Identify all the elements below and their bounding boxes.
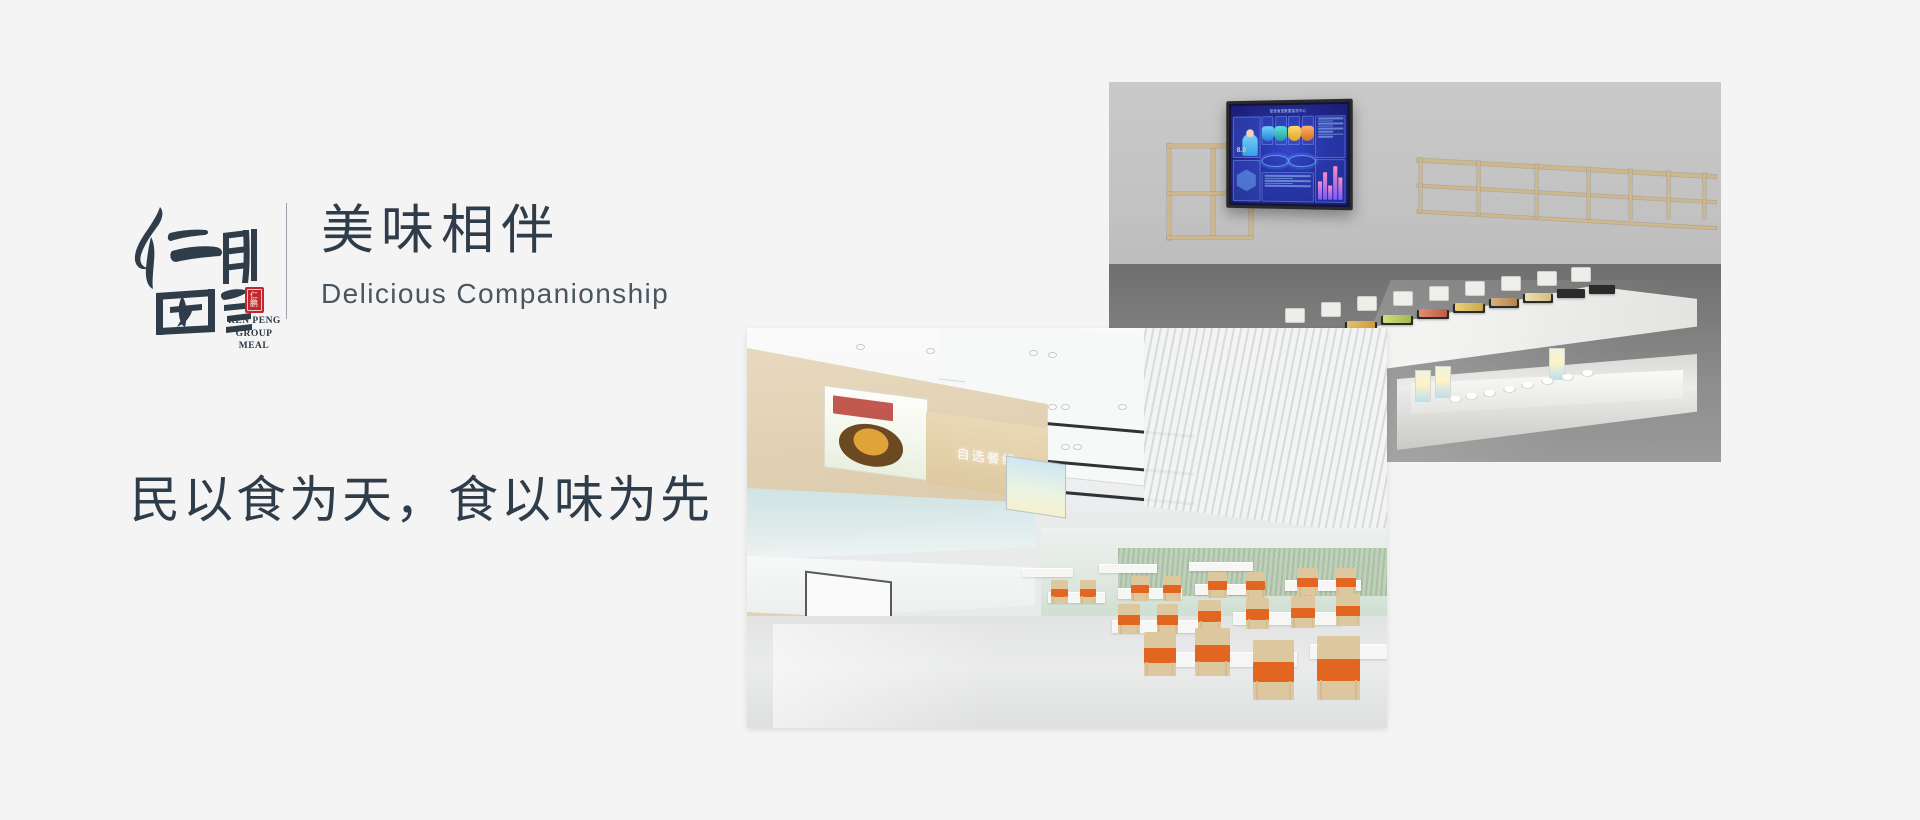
dashboard-pot-gauges — [1262, 115, 1314, 145]
vertical-divider — [286, 203, 287, 319]
lightbox-brand-logo — [833, 395, 892, 420]
dining-chair — [1246, 598, 1269, 629]
dining-table — [1099, 564, 1157, 573]
dining-chair — [1336, 568, 1356, 595]
seal-glyph-bottom: 鹏 — [250, 300, 258, 308]
canteen-interior-image: 自选餐线 — [747, 328, 1387, 728]
red-seal-stamp-icon: 仁 鹏 — [245, 287, 264, 313]
digital-menu-screen — [1006, 456, 1066, 519]
logo-latin-line-2: GROUP — [228, 328, 280, 341]
page-title: 美味相伴 — [321, 201, 669, 261]
dining-chair — [1246, 572, 1265, 598]
dining-chair — [1297, 568, 1317, 595]
dining-chair — [1131, 576, 1149, 601]
dashboard-title: 智慧食堂数据监控中心 — [1233, 106, 1346, 115]
logo-seal-and-latin: 仁 鹏 REN PENG GROUP MEAL — [228, 287, 280, 353]
dining-table — [1189, 562, 1253, 571]
dashboard-display: 智慧食堂数据监控中心 8.0 — [1226, 99, 1352, 211]
dashboard-side-table — [1315, 115, 1345, 158]
dining-chair — [1317, 636, 1361, 700]
logo-latin-line-1: REN PENG — [228, 315, 280, 328]
dashboard-data-table — [1262, 172, 1314, 202]
dining-chair — [1253, 640, 1295, 700]
headline-group: 美味相伴 Delicious Companionship — [321, 195, 669, 311]
dining-chair — [1336, 594, 1360, 626]
dining-chair — [1157, 604, 1179, 634]
logo-latin-line-3: MEAL — [228, 340, 280, 353]
hero-banner: 仁 鹏 REN PENG GROUP MEAL 美味相伴 Delicious C… — [0, 0, 1920, 820]
menu-lightbox — [824, 385, 928, 481]
dining-chair — [1198, 600, 1221, 631]
dashboard-radar-card — [1233, 159, 1260, 201]
noodle-bowl-photo — [839, 420, 902, 470]
dining-chair — [1118, 604, 1140, 634]
dining-chair — [1051, 580, 1068, 604]
floor-reflection — [773, 624, 1093, 728]
dashboard-score: 8.0 — [1237, 147, 1246, 154]
dining-chair — [1163, 576, 1181, 601]
dashboard-score-card: 8.0 — [1233, 116, 1260, 158]
dining-chair — [1144, 632, 1176, 676]
seal-glyphs: 仁 鹏 — [245, 287, 264, 313]
dashboard-screen-content: 智慧食堂数据监控中心 8.0 — [1231, 104, 1348, 205]
dashboard-bar-chart — [1315, 159, 1345, 203]
tagline: 民以食为天，食以味为先 — [130, 468, 713, 532]
dashboard-ring-charts — [1262, 146, 1314, 171]
dining-chair — [1291, 596, 1315, 628]
brand-logo: 仁 鹏 REN PENG GROUP MEAL — [130, 195, 260, 345]
page-subtitle: Delicious Companionship — [321, 277, 669, 311]
brand-block: 仁 鹏 REN PENG GROUP MEAL 美味相伴 Delicious C… — [130, 195, 669, 345]
radar-hexagon-icon — [1237, 169, 1256, 191]
dining-chair — [1195, 628, 1230, 676]
ceiling-slat-area — [1144, 328, 1387, 536]
dining-table — [1022, 568, 1073, 577]
dining-chair — [1080, 580, 1097, 604]
dining-chair — [1208, 572, 1227, 598]
